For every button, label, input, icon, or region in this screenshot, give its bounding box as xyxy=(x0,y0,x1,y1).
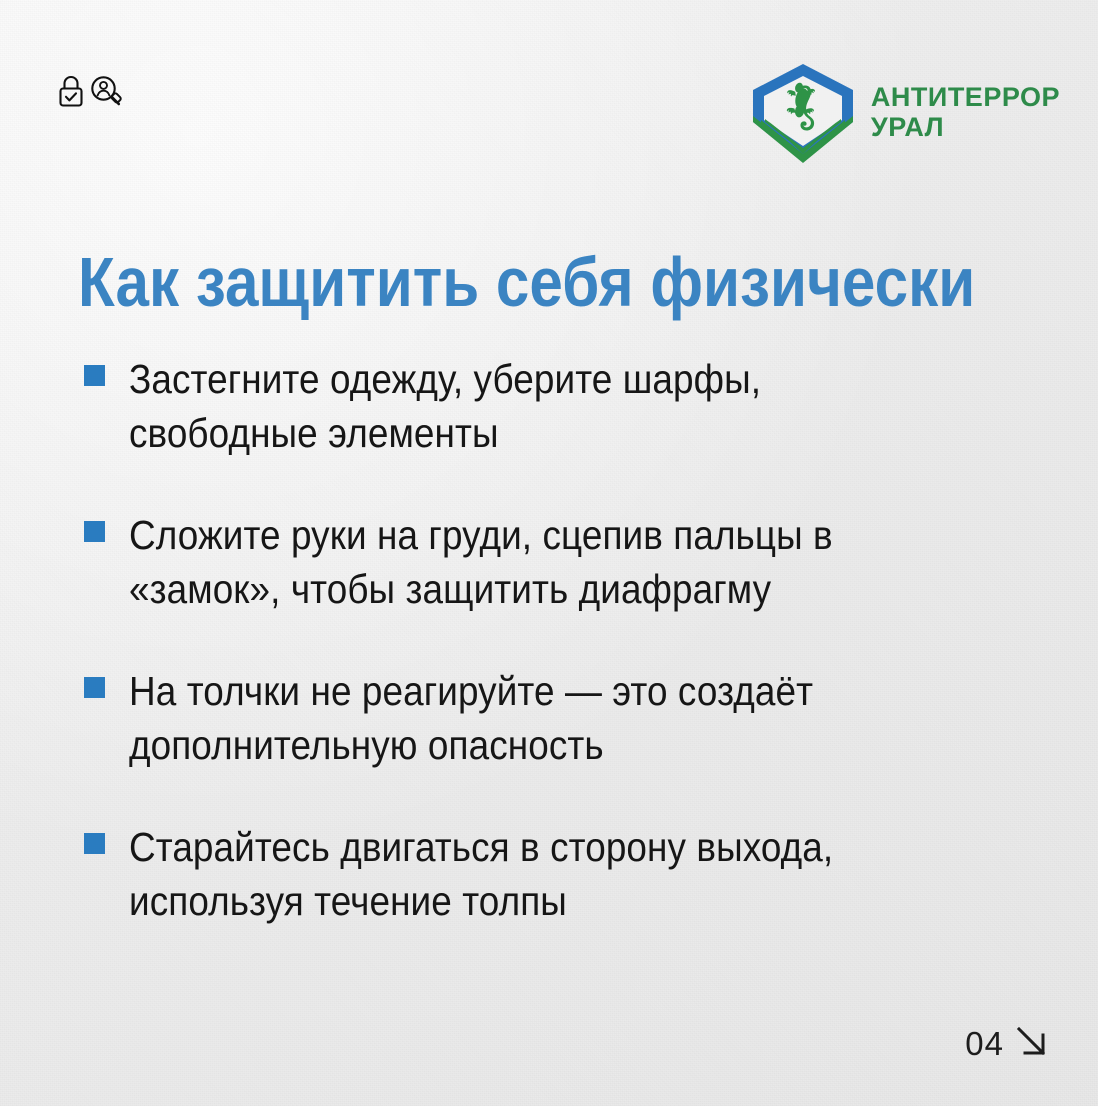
brand-line-1: АНТИТЕРРОР xyxy=(871,83,1060,112)
page-number-value: 04 xyxy=(965,1027,1004,1060)
brand-text: АНТИТЕРРОР УРАЛ xyxy=(871,83,1060,143)
list-item: Застегните одежду, уберите шарфы, свобод… xyxy=(84,352,1034,460)
bullet-square-icon xyxy=(84,833,105,854)
list-item-label: Старайтесь двигаться в сторону выхода, и… xyxy=(129,820,944,928)
user-search-icon xyxy=(88,74,124,112)
brand-line-2: УРАЛ xyxy=(871,112,1060,143)
list-item: Сложите руки на груди, сцепив пальцы в «… xyxy=(84,508,1034,616)
bullet-square-icon xyxy=(84,365,105,386)
arrow-down-right-icon xyxy=(1016,1026,1050,1060)
page-number: 04 xyxy=(965,1026,1050,1060)
list-item-label: Сложите руки на груди, сцепив пальцы в «… xyxy=(129,508,944,616)
slide-header: АНТИТЕРРОР УРАЛ xyxy=(0,0,1098,180)
list-item-label: На толчки не реагируйте — это создаёт до… xyxy=(129,664,944,772)
list-item-label: Застегните одежду, уберите шарфы, свобод… xyxy=(129,352,944,460)
advice-list: Застегните одежду, уберите шарфы, свобод… xyxy=(84,352,1034,928)
shield-lizard-logo-icon xyxy=(749,60,857,166)
lock-check-icon xyxy=(56,74,86,110)
slide-card: АНТИТЕРРОР УРАЛ Как защитить себя физиче… xyxy=(0,0,1098,1106)
list-item: На толчки не реагируйте — это создаёт до… xyxy=(84,664,1034,772)
page-title: Как защитить себя физически xyxy=(78,243,929,321)
list-item: Старайтесь двигаться в сторону выхода, и… xyxy=(84,820,1034,928)
bullet-square-icon xyxy=(84,677,105,698)
bullet-square-icon xyxy=(84,521,105,542)
brand-logo: АНТИТЕРРОР УРАЛ xyxy=(749,60,1060,166)
header-icon-group xyxy=(56,74,124,112)
